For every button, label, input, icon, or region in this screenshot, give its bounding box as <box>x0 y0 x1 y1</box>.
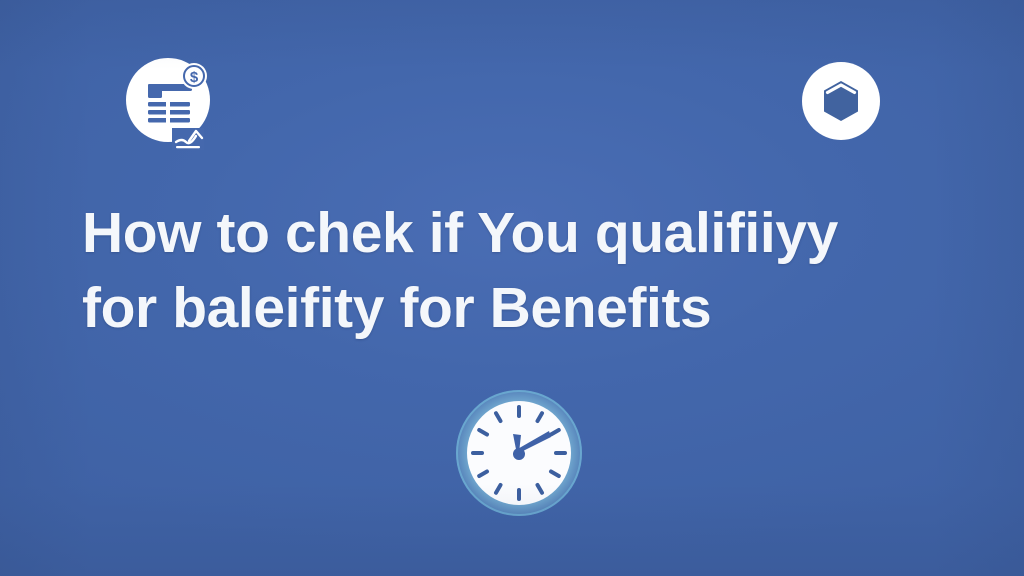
page-title-line-2: for baleifity for Benefits <box>82 271 942 346</box>
svg-text:$: $ <box>190 69 199 86</box>
analog-clock-icon <box>454 387 584 519</box>
dollar-badge-icon: $ <box>181 63 207 89</box>
poster-canvas: $ How to chek if You qualifiiyy for bale… <box>0 0 1024 576</box>
clock-graphic <box>454 387 584 519</box>
page-title: How to chek if You qualifiiyy for baleif… <box>82 196 942 346</box>
page-title-line-1: How to chek if You qualifiiyy <box>82 196 942 271</box>
shield-icon-group <box>802 62 880 140</box>
shield-hexagon-icon <box>802 62 880 140</box>
invoice-icon-group: $ <box>126 58 226 158</box>
invoice-document-dollar-icon: $ <box>126 58 226 158</box>
